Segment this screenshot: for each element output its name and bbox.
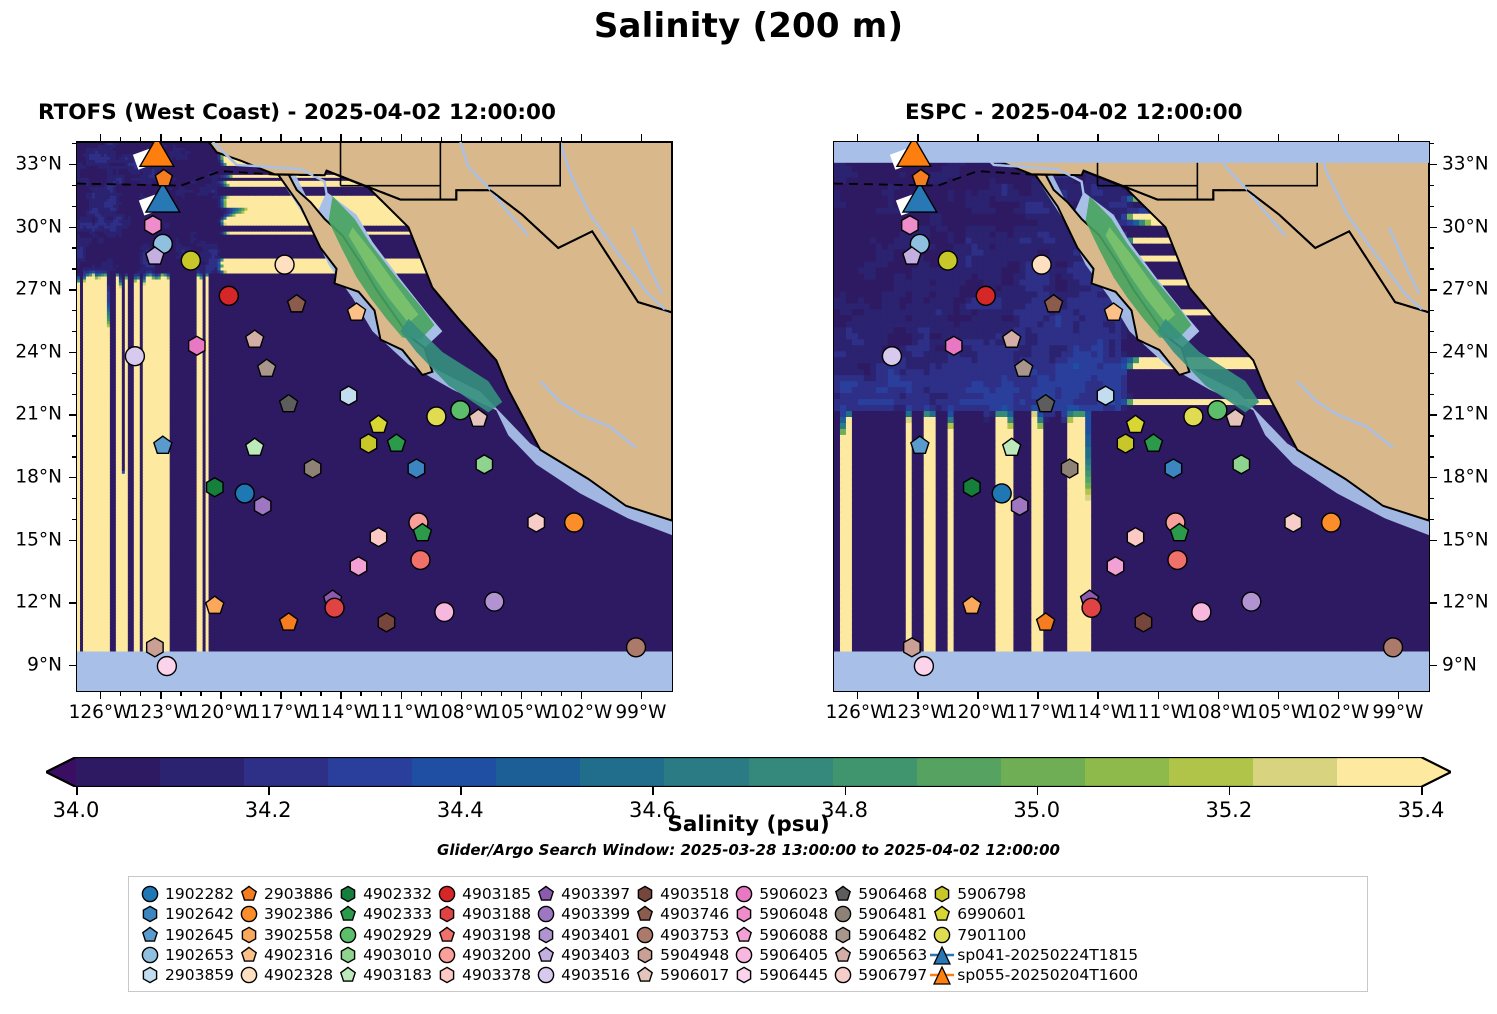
ytick <box>69 164 76 165</box>
legend-marker-pentagon-icon <box>731 925 757 945</box>
ytick <box>1430 665 1437 666</box>
legend-marker-hexagon-icon <box>830 925 856 945</box>
legend-label: sp055-20250204T1600 <box>955 966 1138 984</box>
legend-label: 4902333 <box>361 905 432 923</box>
legend-column-2: 4902332 4902333 4902929 4903010 <box>335 884 432 985</box>
legend-item[interactable]: 4902316 <box>236 945 333 965</box>
xtick-top <box>220 134 221 141</box>
legend-label: 1902653 <box>163 946 234 964</box>
ytick-minor <box>1430 143 1434 144</box>
legend-marker-hexagon-icon <box>335 884 361 904</box>
colorbar-tick <box>1037 787 1039 795</box>
legend-item[interactable]: 3902386 <box>236 904 333 924</box>
legend-label: 5906048 <box>757 905 828 923</box>
xtick-minor-top <box>421 137 422 141</box>
colorbar-band-5 <box>496 757 580 787</box>
legend-marker-circle-icon <box>137 884 163 904</box>
xtick-minor-top <box>180 137 181 141</box>
ytick-minor <box>1430 247 1434 248</box>
xtick-label: 126°W <box>69 702 132 723</box>
legend-item[interactable]: 1902645 <box>137 925 234 945</box>
legend-marker-circle-icon <box>830 965 856 985</box>
panel-title-rtofs: RTOFS (West Coast) - 2025-04-02 12:00:00 <box>38 100 556 125</box>
xtick-minor-top <box>441 137 442 141</box>
salinity-field-espc <box>834 142 1429 691</box>
xtick-minor-top <box>481 137 482 141</box>
xtick-minor-top <box>561 137 562 141</box>
legend-item[interactable]: 5906405 <box>731 945 828 965</box>
xtick-label: 120°W <box>946 702 1009 723</box>
legend-item[interactable]: 4903200 <box>434 945 531 965</box>
legend-label: 4903401 <box>559 926 630 944</box>
xtick <box>1097 692 1098 699</box>
legend-label: 3902386 <box>262 905 333 923</box>
map-panel-espc[interactable] <box>833 141 1430 692</box>
colorbar-band-10 <box>917 757 1001 787</box>
xtick <box>1398 692 1399 699</box>
ytick-label: 18°N <box>1442 467 1489 488</box>
ytick-minor <box>72 373 76 374</box>
legend-item[interactable]: 5906445 <box>731 965 828 985</box>
legend-marker-hexagon-icon <box>434 965 460 985</box>
legend-marker-circle-icon <box>533 965 559 985</box>
colorbar-band-0 <box>76 757 160 787</box>
legend-label: 4903010 <box>361 946 432 964</box>
legend-marker-circle-icon <box>929 925 955 945</box>
legend-marker-pentagon-icon <box>335 965 361 985</box>
legend-label: sp041-20250224T1815 <box>955 946 1138 964</box>
xtick-top <box>581 134 582 141</box>
xtick-label: 114°W <box>1066 702 1129 723</box>
ytick <box>69 414 76 415</box>
ytick-minor <box>72 519 76 520</box>
ytick-label: 24°N <box>0 341 62 362</box>
legend-item[interactable]: 6990601 <box>929 904 1138 924</box>
ytick-minor <box>1430 185 1434 186</box>
legend-label: 5906797 <box>856 966 927 984</box>
legend-item[interactable]: sp055-20250204T1600 <box>929 965 1138 985</box>
xtick-label: 123°W <box>129 702 192 723</box>
legend-marker-circle-icon <box>731 884 757 904</box>
legend-column-4: 4903397 4903399 4903401 4903403 <box>533 884 630 985</box>
xtick-label: 123°W <box>886 702 949 723</box>
legend-label: 5906563 <box>856 946 927 964</box>
legend-marker-pentagon-icon <box>632 965 658 985</box>
legend-label: 4903188 <box>460 905 531 923</box>
ytick-label: 24°N <box>1442 341 1489 362</box>
ytick-label: 30°N <box>0 216 62 237</box>
legend-label: 4903746 <box>658 905 729 923</box>
legend-item[interactable]: 4903378 <box>434 965 531 985</box>
ytick <box>1430 164 1437 165</box>
legend-marker-circle-icon <box>632 925 658 945</box>
xtick-minor <box>421 692 422 696</box>
legend-marker-pentagon-icon <box>236 945 262 965</box>
xtick-label: 120°W <box>189 702 252 723</box>
xtick <box>401 692 402 699</box>
legend-marker-hexagon-icon <box>137 965 163 985</box>
xtick-label: 102°W <box>1306 702 1369 723</box>
ytick <box>69 665 76 666</box>
ytick-minor <box>72 331 76 332</box>
colorbar-band-4 <box>412 757 496 787</box>
legend-item[interactable]: 1902653 <box>137 945 234 965</box>
colorbar-tick <box>652 787 654 795</box>
xtick-label: 111°W <box>369 702 432 723</box>
legend-label: 4902332 <box>361 885 432 903</box>
xtick-minor <box>441 692 442 696</box>
salinity-field-rtofs <box>77 142 672 691</box>
xtick-label: 114°W <box>309 702 372 723</box>
colorbar-band-14 <box>1253 757 1337 787</box>
legend-label: 4903183 <box>361 966 432 984</box>
legend-label: 4903753 <box>658 926 729 944</box>
xtick-top <box>641 134 642 141</box>
legend-label: 4902316 <box>262 946 333 964</box>
xtick-minor-top <box>200 137 201 141</box>
legend-marker-circle-icon <box>236 965 262 985</box>
legend-item[interactable]: 1902282 <box>137 884 234 904</box>
legend-item[interactable]: 5906481 <box>830 904 927 924</box>
legend-item[interactable]: 4903403 <box>533 945 630 965</box>
ytick-minor <box>1430 456 1434 457</box>
ytick <box>1430 540 1437 541</box>
colorbar-band-3 <box>328 757 412 787</box>
legend-label: 5906798 <box>955 885 1026 903</box>
colorbar-band-2 <box>244 757 328 787</box>
ytick-minor <box>72 394 76 395</box>
legend-column-5: 4903518 4903746 4903753 5904948 <box>632 884 729 985</box>
legend-label: 4903200 <box>460 946 531 964</box>
legend-item[interactable]: 4903397 <box>533 884 630 904</box>
xtick-top <box>857 134 858 141</box>
legend-marker-pentagon-icon <box>632 904 658 924</box>
legend-label: 1902642 <box>163 905 234 923</box>
ytick-minor <box>72 185 76 186</box>
legend-item[interactable]: 5906482 <box>830 925 927 945</box>
legend-label: 4903198 <box>460 926 531 944</box>
xtick-minor <box>381 692 382 696</box>
xtick-minor-top <box>541 137 542 141</box>
ytick-minor <box>1430 331 1434 332</box>
colorbar-over-arrow <box>1421 757 1451 787</box>
ytick-label: 21°N <box>0 404 62 425</box>
colorbar-band-13 <box>1169 757 1253 787</box>
legend-label: 4903185 <box>460 885 531 903</box>
ytick <box>69 227 76 228</box>
legend-marker-hexagon-icon <box>929 884 955 904</box>
legend-label: 4903518 <box>658 885 729 903</box>
xtick-minor <box>120 692 121 696</box>
xtick-label: 99°W <box>615 702 666 723</box>
ytick-label: 33°N <box>1442 153 1489 174</box>
xtick-minor-top <box>381 137 382 141</box>
ytick-label: 27°N <box>1442 279 1489 300</box>
ytick-label: 27°N <box>0 279 62 300</box>
legend-marker-hexagon-icon <box>434 904 460 924</box>
legend-item[interactable]: 4903188 <box>434 904 531 924</box>
legend-marker-triangle-icon <box>929 965 955 985</box>
ytick-label: 15°N <box>0 529 62 550</box>
legend-item[interactable]: 5906017 <box>632 965 729 985</box>
xtick-label: 108°W <box>429 702 492 723</box>
ytick-minor <box>72 498 76 499</box>
legend-item[interactable]: 5906088 <box>731 925 828 945</box>
legend-item[interactable]: 4903399 <box>533 904 630 924</box>
colorbar-band-15 <box>1337 757 1421 787</box>
xtick-minor <box>240 692 241 696</box>
legend-label: 4903403 <box>559 946 630 964</box>
legend-item[interactable]: 4903198 <box>434 925 531 945</box>
legend-marker-circle-icon <box>236 904 262 924</box>
colorbar-tick <box>460 787 462 795</box>
legend-marker-pentagon-icon <box>236 884 262 904</box>
xtick-label: 105°W <box>1246 702 1309 723</box>
ytick <box>69 602 76 603</box>
xtick-minor-top <box>300 137 301 141</box>
ytick-minor <box>1430 435 1434 436</box>
xtick <box>641 692 642 699</box>
colorbar-band-9 <box>833 757 917 787</box>
legend-label: 5906468 <box>856 885 927 903</box>
legend-label: 5906482 <box>856 926 927 944</box>
ytick-minor <box>72 435 76 436</box>
legend-label: 5906481 <box>856 905 927 923</box>
legend-label: 1902282 <box>163 885 234 903</box>
xtick-top <box>1158 134 1159 141</box>
ytick-minor <box>1430 268 1434 269</box>
legend-item[interactable]: 5906798 <box>929 884 1138 904</box>
legend-marker-circle-icon <box>434 945 460 965</box>
xtick-label: 126°W <box>826 702 889 723</box>
legend-item[interactable]: 4903516 <box>533 965 630 985</box>
xtick-top <box>977 134 978 141</box>
colorbar-band-6 <box>580 757 664 787</box>
legend-marker-hexagon-icon <box>731 904 757 924</box>
xtick-minor-top <box>360 137 361 141</box>
legend-column-0: 1902282 1902642 1902645 1902653 <box>137 884 234 985</box>
xtick-minor <box>501 692 502 696</box>
xtick <box>917 692 918 699</box>
legend-label: 7901100 <box>955 926 1026 944</box>
xtick-label: 108°W <box>1186 702 1249 723</box>
xtick-minor <box>260 692 261 696</box>
xtick-minor <box>320 692 321 696</box>
legend-item[interactable]: 1902642 <box>137 904 234 924</box>
ytick-minor <box>1430 519 1434 520</box>
xtick <box>1158 692 1159 699</box>
legend-item[interactable]: 5906048 <box>731 904 828 924</box>
colorbar-tick <box>845 787 847 795</box>
ytick-minor <box>72 268 76 269</box>
xtick-top <box>1097 134 1098 141</box>
legend-column-7: 5906468 5906481 5906482 5906563 <box>830 884 927 985</box>
legend-label: 4902929 <box>361 926 432 944</box>
xtick-top <box>1037 134 1038 141</box>
xtick <box>1037 692 1038 699</box>
colorbar-under-arrow <box>46 757 76 787</box>
legend-label: 4903516 <box>559 966 630 984</box>
colorbar-tick <box>1421 787 1423 795</box>
legend-marker-hexagon-icon <box>533 925 559 945</box>
legend-item[interactable]: 2903859 <box>137 965 234 985</box>
legend-item[interactable]: 5906023 <box>731 884 828 904</box>
legend-marker-pentagon-icon <box>830 884 856 904</box>
xtick <box>100 692 101 699</box>
legend-item[interactable]: 4903746 <box>632 904 729 924</box>
xtick-minor-top <box>320 137 321 141</box>
legend-marker-pentagon-icon <box>335 904 361 924</box>
xtick-minor <box>140 692 141 696</box>
map-panel-rtofs[interactable] <box>76 141 673 692</box>
ytick-minor <box>72 310 76 311</box>
xtick-minor <box>360 692 361 696</box>
legend-label: 6990601 <box>955 905 1026 923</box>
legend-label: 2903886 <box>262 885 333 903</box>
xtick-top <box>1278 134 1279 141</box>
colorbar-band-7 <box>664 757 748 787</box>
legend-item[interactable]: 4902333 <box>335 904 432 924</box>
colorbar-tick <box>268 787 270 795</box>
xtick-minor <box>200 692 201 696</box>
ytick <box>1430 414 1437 415</box>
colorbar-band-11 <box>1001 757 1085 787</box>
xtick-minor-top <box>260 137 261 141</box>
legend-marker-pentagon-icon <box>533 945 559 965</box>
xtick <box>857 692 858 699</box>
ytick <box>69 289 76 290</box>
page-title: Salinity (200 m) <box>0 6 1497 46</box>
legend-label: 4903397 <box>559 885 630 903</box>
xtick-top <box>917 134 918 141</box>
legend-marker-circle-icon <box>731 945 757 965</box>
legend-item[interactable]: 3902558 <box>236 925 333 945</box>
legend-label: 5906405 <box>757 946 828 964</box>
legend-item[interactable]: sp041-20250224T1815 <box>929 945 1138 965</box>
legend-marker-hexagon-icon <box>335 945 361 965</box>
ytick <box>1430 352 1437 353</box>
ytick-minor <box>72 206 76 207</box>
colorbar-band-12 <box>1085 757 1169 787</box>
legend-marker-hexagon-icon <box>137 904 163 924</box>
ytick-label: 9°N <box>1442 654 1477 675</box>
xtick-label: 102°W <box>549 702 612 723</box>
xtick-top <box>401 134 402 141</box>
legend-label: 1902645 <box>163 926 234 944</box>
legend-label: 4903399 <box>559 905 630 923</box>
xtick <box>1278 692 1279 699</box>
colorbar-label: Salinity (psu) <box>0 812 1497 837</box>
search-window-text: Glider/Argo Search Window: 2025-03-28 13… <box>0 841 1497 859</box>
xtick <box>1338 692 1339 699</box>
xtick-minor <box>561 692 562 696</box>
ytick-minor <box>72 456 76 457</box>
colorbar-band-1 <box>160 757 244 787</box>
xtick <box>160 692 161 699</box>
legend-label: 5906017 <box>658 966 729 984</box>
legend-label: 4903378 <box>460 966 531 984</box>
legend-item[interactable]: 4903753 <box>632 925 729 945</box>
legend-item[interactable]: 4903183 <box>335 965 432 985</box>
legend-marker-pentagon-icon <box>929 904 955 924</box>
xtick-label: 111°W <box>1126 702 1189 723</box>
legend-marker-hexagon-icon <box>632 945 658 965</box>
xtick <box>1218 692 1219 699</box>
legend-marker-triangle-icon <box>929 945 955 965</box>
legend-label: 5906088 <box>757 926 828 944</box>
xtick <box>521 692 522 699</box>
xtick <box>340 692 341 699</box>
ytick-minor <box>72 143 76 144</box>
ytick-minor <box>1430 373 1434 374</box>
colorbar[interactable]: 34.034.234.434.634.835.035.235.4 <box>46 757 1451 787</box>
legend-label: 5906023 <box>757 885 828 903</box>
ytick <box>1430 602 1437 603</box>
xtick-minor-top <box>240 137 241 141</box>
legend-item[interactable]: 4903010 <box>335 945 432 965</box>
xtick-top <box>1218 134 1219 141</box>
legend-item[interactable]: 5906468 <box>830 884 927 904</box>
legend-marker-pentagon-icon <box>137 925 163 945</box>
legend-item[interactable]: 4902929 <box>335 925 432 945</box>
legend-marker-circle-icon <box>434 884 460 904</box>
xtick-top <box>1398 134 1399 141</box>
xtick <box>461 692 462 699</box>
xtick-top <box>160 134 161 141</box>
legend-item[interactable]: 4902328 <box>236 965 333 985</box>
legend-column-8: 5906798 6990601 7901100 <box>929 884 1138 985</box>
ytick-minor <box>72 247 76 248</box>
legend-item[interactable]: 4903185 <box>434 884 531 904</box>
ytick <box>1430 477 1437 478</box>
xtick <box>280 692 281 699</box>
xtick-label: 105°W <box>489 702 552 723</box>
xtick-minor-top <box>140 137 141 141</box>
legend-item[interactable]: 4903518 <box>632 884 729 904</box>
legend-column-6: 5906023 5906048 5906088 5906405 <box>731 884 828 985</box>
legend-item[interactable]: 5906797 <box>830 965 927 985</box>
ytick <box>1430 289 1437 290</box>
colorbar-tick <box>1229 787 1231 795</box>
legend-item[interactable]: 7901100 <box>929 925 1138 945</box>
xtick-label: 117°W <box>1006 702 1069 723</box>
legend-item[interactable]: 5906563 <box>830 945 927 965</box>
legend-marker-hexagon-icon <box>731 965 757 985</box>
legend-label: 4902328 <box>262 966 333 984</box>
ytick-label: 15°N <box>1442 529 1489 550</box>
legend-marker-circle-icon <box>533 904 559 924</box>
xtick-label: 117°W <box>249 702 312 723</box>
colorbar-band-8 <box>749 757 833 787</box>
float-legend[interactable]: 1902282 1902642 1902645 1902653 <box>128 876 1368 992</box>
legend-item[interactable]: 5904948 <box>632 945 729 965</box>
legend-item[interactable]: 2903886 <box>236 884 333 904</box>
ytick <box>69 352 76 353</box>
legend-column-1: 2903886 3902386 3902558 4902316 <box>236 884 333 985</box>
legend-item[interactable]: 4902332 <box>335 884 432 904</box>
legend-marker-pentagon-icon <box>533 884 559 904</box>
ytick-label: 21°N <box>1442 404 1489 425</box>
ytick-label: 12°N <box>1442 592 1489 613</box>
xtick-label: 99°W <box>1372 702 1423 723</box>
legend-item[interactable]: 4903401 <box>533 925 630 945</box>
legend-label: 3902558 <box>262 926 333 944</box>
xtick-top <box>1338 134 1339 141</box>
xtick-top <box>280 134 281 141</box>
panel-title-espc: ESPC - 2025-04-02 12:00:00 <box>905 100 1243 125</box>
legend-label: 5904948 <box>658 946 729 964</box>
legend-marker-hexagon-icon <box>632 884 658 904</box>
